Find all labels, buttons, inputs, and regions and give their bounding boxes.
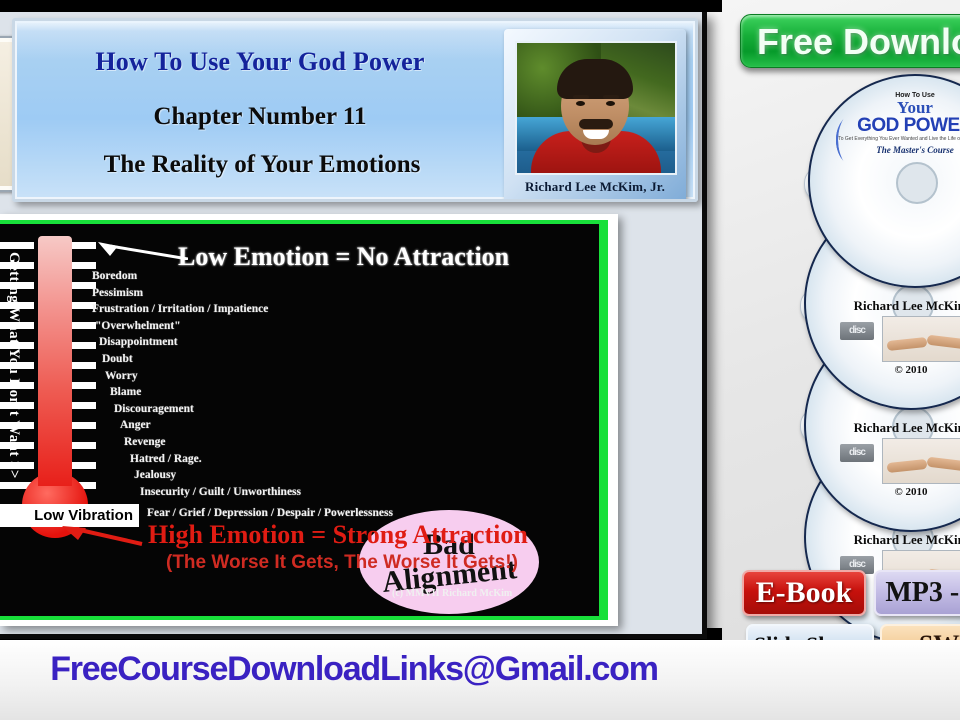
emotion-item: "Overwhelment" bbox=[92, 318, 492, 335]
cd-tagline: To Get Everything You Ever Wanted and Li… bbox=[810, 136, 960, 142]
emotion-item: Anger bbox=[92, 417, 492, 434]
cd-your-label: Your bbox=[810, 99, 960, 116]
photo-brow-left bbox=[573, 95, 589, 99]
free-download-label: Free Download bbox=[757, 21, 960, 63]
mp3-cd-button[interactable]: MP3 - CD bbox=[874, 570, 960, 616]
photo-hair bbox=[557, 59, 633, 99]
emotion-chart: Getting What You Don't Want >> Low Vibra… bbox=[0, 214, 618, 626]
hand-right-icon bbox=[927, 457, 960, 472]
cd-year: © 2010 bbox=[806, 486, 960, 498]
author-photo bbox=[515, 41, 677, 175]
emotion-item: Blame bbox=[92, 384, 492, 401]
page-title: How To Use Your God Power bbox=[45, 47, 475, 77]
emotion-item: Doubt bbox=[92, 351, 492, 368]
free-download-button[interactable]: Free Download bbox=[740, 14, 960, 68]
author-block: Richard Lee McKim, Jr. bbox=[504, 29, 686, 202]
cd-artwork bbox=[882, 438, 960, 484]
slide-header-banner: How To Use Your God Power Chapter Number… bbox=[12, 18, 698, 202]
photo-eye-left bbox=[576, 101, 585, 106]
emotion-item: Boredom bbox=[92, 268, 492, 285]
cd-author-name: Richard Lee McKim bbox=[806, 532, 960, 548]
chart-green-border: Getting What You Don't Want >> Low Vibra… bbox=[0, 220, 608, 620]
emotion-item: Hatred / Rage. bbox=[92, 451, 492, 468]
cd-godpower-label: GOD POWER bbox=[810, 116, 960, 136]
emotion-item: Revenge bbox=[92, 434, 492, 451]
slide-panel: How To Use Your God Power Chapter Number… bbox=[0, 12, 707, 639]
chapter-subtitle: The Reality of Your Emotions bbox=[37, 151, 487, 179]
cd-hole-icon bbox=[896, 162, 938, 204]
thermometer: Getting What You Don't Want >> Low Vibra… bbox=[16, 236, 94, 616]
hand-left-icon bbox=[887, 337, 928, 351]
contact-email[interactable]: FreeCourseDownloadLinks@Gmail.com bbox=[0, 650, 712, 689]
photo-moustache bbox=[579, 119, 613, 129]
thermometer-stem bbox=[38, 236, 72, 486]
cd-course-label: The Master's Course bbox=[810, 145, 960, 155]
photo-eye-right bbox=[606, 101, 615, 106]
mp3-cd-label: MP3 - CD bbox=[885, 577, 960, 609]
emotion-item: Jealousy bbox=[92, 467, 492, 484]
pointer-arrow-left-icon bbox=[60, 524, 144, 548]
emotion-item: Insecurity / Guilt / Unworthiness bbox=[92, 484, 492, 501]
emotion-item: Pessimism bbox=[92, 285, 492, 302]
cd-label-text: How To Use Your GOD POWER To Get Everyth… bbox=[810, 92, 960, 155]
photo-brow-right bbox=[603, 95, 619, 99]
hand-left-icon bbox=[887, 459, 928, 473]
chapter-label: Chapter Number 11 bbox=[45, 103, 475, 131]
letterbox-top bbox=[0, 0, 722, 12]
emotion-list: Boredom Pessimism Frustration / Irritati… bbox=[92, 268, 492, 522]
thermometer-label: Getting What You Don't Want >> bbox=[5, 252, 22, 502]
high-emotion-text: High Emotion = Strong Attraction bbox=[148, 520, 528, 550]
compact-disc-logo-icon: disc bbox=[840, 444, 874, 462]
pointer-arrow-up-icon bbox=[96, 240, 188, 260]
hand-right-icon bbox=[927, 335, 960, 350]
sidebar: Free Download Richard Lee McKim disc © 2… bbox=[722, 0, 960, 640]
cd-author-name: Richard Lee McKim bbox=[806, 298, 960, 314]
cd-artwork bbox=[882, 316, 960, 362]
emotion-item: Worry bbox=[92, 368, 492, 385]
slide-viewer: How To Use Your God Power Chapter Number… bbox=[0, 0, 960, 720]
worse-it-gets-text: (The Worse It Gets, The Worse It Gets!) bbox=[166, 552, 518, 574]
emotion-item: Discouragement bbox=[92, 401, 492, 418]
author-name: Richard Lee McKim, Jr. bbox=[504, 179, 686, 195]
compact-disc-logo-icon: disc bbox=[840, 322, 874, 340]
cd-author-name: Richard Lee McKim bbox=[806, 420, 960, 436]
chart-canvas: Getting What You Don't Want >> Low Vibra… bbox=[0, 224, 599, 616]
emotion-item: Disappointment bbox=[92, 334, 492, 351]
cd-howto-label: How To Use bbox=[810, 92, 960, 99]
ebook-label: E-Book bbox=[756, 576, 853, 610]
ebook-button[interactable]: E-Book bbox=[742, 570, 866, 616]
chart-copyright: (c) MMVII Richard McKim bbox=[392, 588, 512, 599]
emotion-item: Frustration / Irritation / Impatience bbox=[92, 301, 492, 318]
cd-year: © 2010 bbox=[806, 364, 960, 376]
